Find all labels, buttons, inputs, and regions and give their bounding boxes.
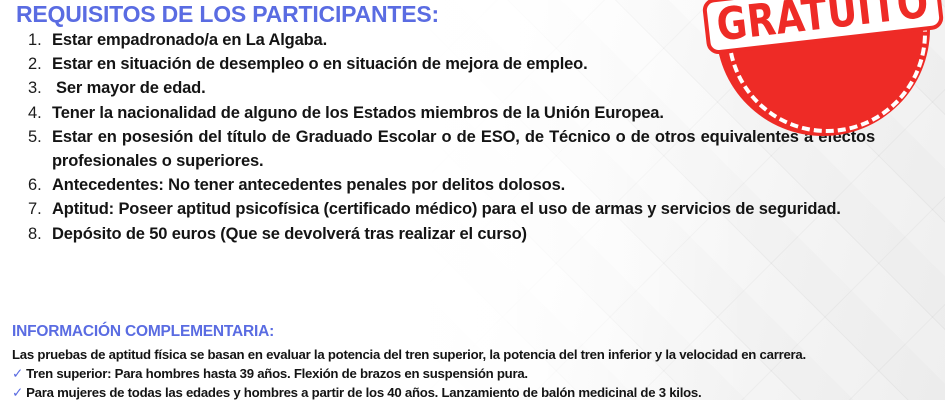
complementary-info-bullet-text: Tren superior: Para hombres hasta 39 año…: [26, 366, 528, 381]
requirement-text: Antecedentes: No tener antecedentes pena…: [52, 173, 875, 197]
requirement-text: Depósito de 50 euros (Que se devolverá t…: [52, 222, 875, 246]
requirement-item: 8. Depósito de 50 euros (Que se devolver…: [0, 222, 910, 246]
complementary-info-lines: Las pruebas de aptitud física se basan e…: [12, 345, 937, 400]
requirement-text: Aptitud: Poseer aptitud psicofísica (cer…: [52, 197, 875, 221]
requirement-number: 3.: [28, 76, 50, 100]
requirements-heading: REQUISITOS DE LOS PARTICIPANTES:: [16, 1, 439, 27]
complementary-info-bullet-text: Para mujeres de todas las edades y hombr…: [26, 385, 701, 400]
requirement-item: 6. Antecedentes: No tener antecedentes p…: [0, 173, 910, 197]
requirement-number: 1.: [28, 28, 50, 52]
requirement-number: 4.: [28, 101, 50, 125]
check-icon: ✓: [12, 385, 23, 400]
requirement-number: 7.: [28, 197, 50, 221]
requirement-number: 8.: [28, 222, 50, 246]
requirement-number: 6.: [28, 173, 50, 197]
complementary-info-bullet: ✓Tren superior: Para hombres hasta 39 añ…: [12, 364, 937, 383]
complementary-info-intro: Las pruebas de aptitud física se basan e…: [12, 345, 937, 364]
complementary-info-heading: INFORMACIÓN COMPLEMENTARIA:: [12, 322, 274, 341]
gratuito-stamp-badge: GRATUITO: [716, 0, 930, 136]
requirement-number: 5.: [28, 125, 50, 149]
complementary-info-bullet: ✓Para mujeres de todas las edades y homb…: [12, 383, 937, 400]
poster-canvas: REQUISITOS DE LOS PARTICIPANTES: 1. Esta…: [0, 0, 945, 400]
complementary-info-intro-text: Las pruebas de aptitud física se basan e…: [12, 347, 806, 362]
requirement-item: 7. Aptitud: Poseer aptitud psicofísica (…: [0, 197, 910, 221]
requirement-number: 2.: [28, 52, 50, 76]
check-icon: ✓: [12, 366, 23, 381]
